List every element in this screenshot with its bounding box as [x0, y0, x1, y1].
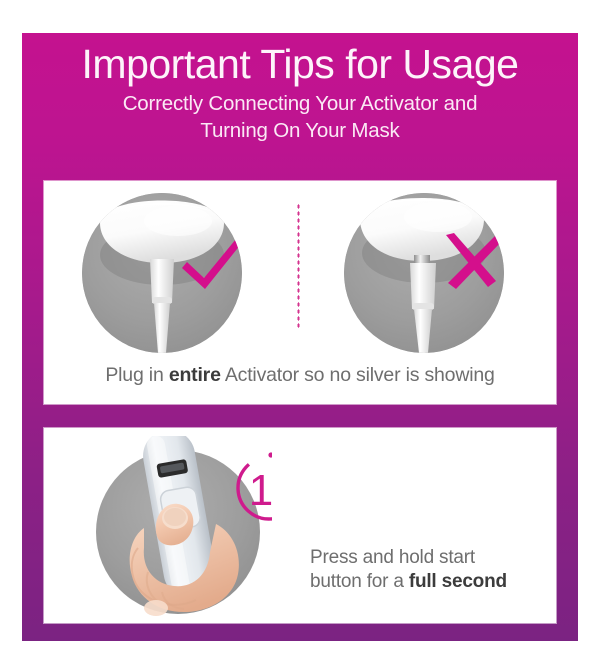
caption-text-before: Plug in	[105, 364, 168, 386]
one-second-badge: 1 second	[230, 448, 272, 526]
activator-plugged-incorrect-photo	[344, 193, 504, 353]
promo-poster: Important Tips for Usage Correctly Conne…	[22, 33, 578, 641]
dotted-vertical-divider	[297, 203, 300, 328]
caption-line-1: Press and hold start	[310, 546, 507, 570]
hand-holding-activator-remote-photo: 1 second	[92, 436, 272, 616]
remote-panel-caption: Press and hold start button for a full s…	[310, 546, 507, 594]
caption-line-2-bold: full second	[409, 571, 507, 592]
page-title: Important Tips for Usage	[32, 39, 568, 89]
badge-number: 1	[249, 466, 272, 515]
remote-instruction-panel: 1 second Press and hold start button for…	[44, 428, 556, 623]
checkmark-icon	[178, 237, 242, 293]
poster-header: Important Tips for Usage Correctly Conne…	[22, 33, 578, 153]
page-subtitle-line-2: Turning On Your Mask	[32, 118, 568, 143]
caption-line-2-before: button for a	[310, 571, 409, 592]
plug-instruction-panel: Plug in entire Activator so no silver is…	[44, 181, 556, 404]
cross-icon	[440, 233, 502, 293]
plug-panel-caption: Plug in entire Activator so no silver is…	[44, 364, 556, 387]
caption-line-2: button for a full second	[310, 570, 507, 594]
caption-text-after: Activator so no silver is showing	[221, 364, 495, 386]
activator-plugged-correct-photo	[82, 193, 242, 353]
caption-text-bold: entire	[169, 364, 221, 386]
page-subtitle-line-1: Correctly Connecting Your Activator and	[32, 91, 568, 116]
